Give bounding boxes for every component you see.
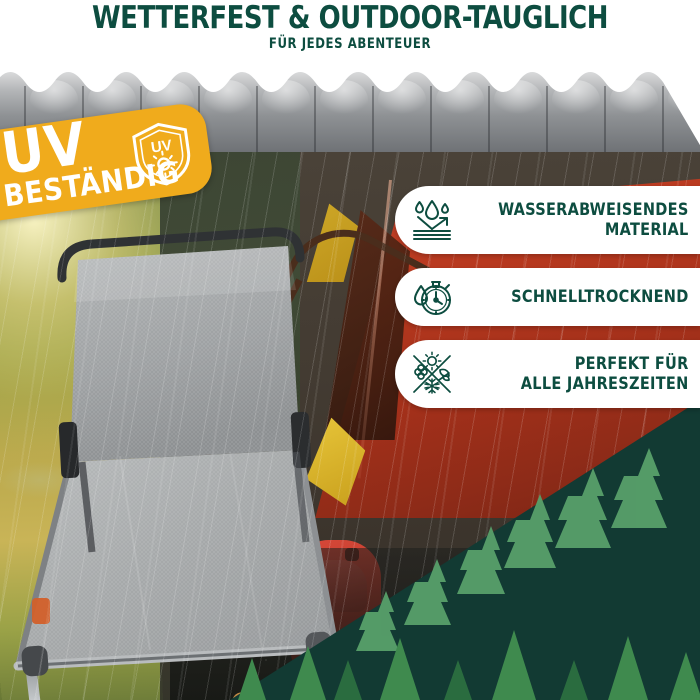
feature-label-line2: ALLE JAHRESZEITEN (477, 374, 689, 394)
feature-label: SCHNELLTROCKNEND (475, 275, 700, 319)
four-seasons-icon (395, 348, 463, 400)
feature-label-line1: PERFEKT FÜR (477, 354, 689, 374)
feature-label-line2: MATERIAL (477, 220, 689, 240)
uv-shield-icon: UV (127, 117, 198, 191)
pine-forest-silhouette (230, 400, 700, 700)
feature-list: WASSERABWEISENDES MATERIAL (395, 186, 700, 422)
stopwatch-droplet-icon (395, 273, 463, 321)
feature-label: WASSERABWEISENDES MATERIAL (475, 188, 700, 252)
feature-label: PERFEKT FÜR ALLE JAHRESZEITEN (475, 342, 700, 406)
header-bar: WETTERFEST & OUTDOOR-TAUGLICH FÜR JEDES … (0, 0, 700, 62)
page-subtitle: FÜR JEDES ABENTEUER (25, 37, 676, 52)
feature-label-line1: SCHNELLTROCKNEND (477, 287, 689, 307)
feature-item-quick-dry[interactable]: SCHNELLTROCKNEND (395, 268, 700, 326)
feature-label-line1: WASSERABWEISENDES (477, 200, 689, 220)
page-title: WETTERFEST & OUTDOOR-TAUGLICH (25, 2, 676, 34)
marketing-banner: WETTERFEST & OUTDOOR-TAUGLICH FÜR JEDES … (0, 0, 700, 700)
water-repellent-icon (395, 195, 463, 245)
feature-item-all-seasons[interactable]: PERFEKT FÜR ALLE JAHRESZEITEN (395, 340, 700, 408)
feature-item-water-repellent[interactable]: WASSERABWEISENDES MATERIAL (395, 186, 700, 254)
